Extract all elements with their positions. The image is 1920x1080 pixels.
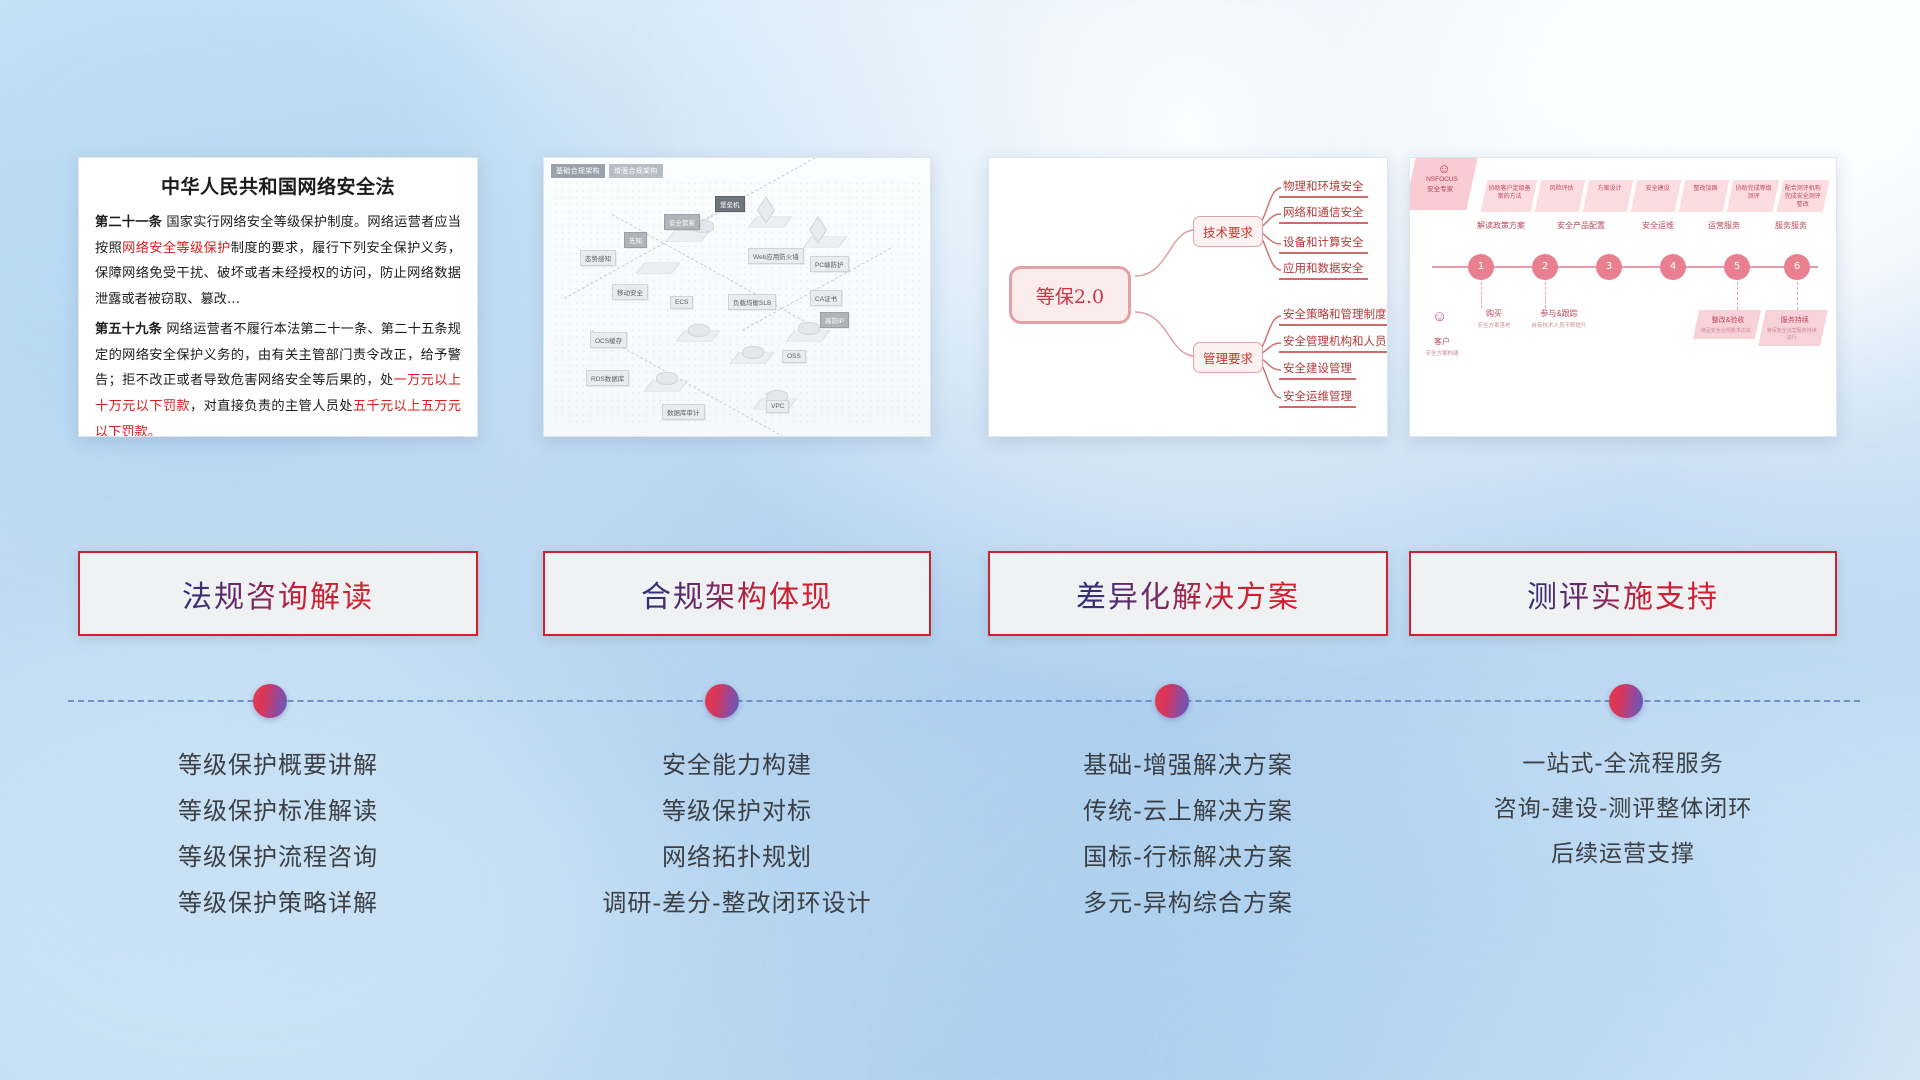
outcome-title: 整改&验收: [1701, 315, 1755, 325]
mindmap-diagram: 等保2.0 技术要求 管理要求 物理和环境安全 网络和通信安全 设备和计算安全 …: [989, 158, 1387, 436]
nsfocus-brand: NSFOCUS: [1411, 176, 1473, 183]
arch-node-ca: CA证书: [810, 290, 842, 306]
nsfocus-step-6: 6: [1784, 254, 1810, 280]
bullet-item: 网络拓扑规划: [543, 834, 931, 880]
customer-role-sub: 安全方案构建: [1416, 349, 1468, 357]
mindmap-branch-management: 管理要求: [1193, 342, 1263, 373]
timeline-dot-4[interactable]: [1609, 684, 1643, 718]
law-article-number-59: 第五十九条: [95, 322, 162, 337]
mindmap-leaf: 应用和数据安全: [1279, 260, 1368, 280]
nsfocus-connector: [1481, 282, 1482, 308]
person-star-icon: ☺: [1413, 162, 1475, 176]
nsfocus-phase-label: 安全产品配置: [1552, 220, 1610, 231]
nsfocus-top-chip: 方案设计: [1583, 180, 1634, 212]
law-document-title: 中华人民共和国网络安全法: [95, 172, 461, 199]
section-plate-2[interactable]: 合规架构体现: [543, 551, 931, 636]
nsfocus-top-chip: 协助客户定级备案的方法: [1481, 180, 1538, 212]
arch-node-housekeeper: 安全管家: [664, 214, 700, 230]
nsfocus-customer-item: 参与&跟踪 自有技术人员不断提升: [1526, 308, 1592, 329]
nsfocus-top-chip: 配合测评机构完成安全测评整改: [1777, 180, 1830, 212]
mindmap-leaf: 安全策略和管理制度: [1279, 306, 1388, 326]
bullet-column-4: 一站式-全流程服务 咨询-建设-测评整体闭环 后续运营支撑: [1409, 742, 1837, 877]
thumbnail-card-architecture[interactable]: 基础合规架构 增强合规架构: [543, 157, 931, 437]
thumbnail-card-law-text[interactable]: 中华人民共和国网络安全法 第二十一条 国家实行网络安全等级保护制度。网络运营者应…: [78, 157, 478, 437]
law-paragraph-59: 第五十九条 网络运营者不履行本法第二十一条、第二十五条规定的网络安全保护义务的，…: [95, 317, 461, 437]
chip-label: 方案设计: [1590, 185, 1628, 193]
nsfocus-step-5: 5: [1724, 254, 1750, 280]
phase-title: 安全运维: [1632, 220, 1684, 231]
nsfocus-step-4: 4: [1660, 254, 1686, 280]
bullet-item: 咨询-建设-测评整体闭环: [1409, 787, 1837, 832]
arch-node-rds: RDS数据库: [586, 370, 629, 386]
phase-title: 安全产品配置: [1552, 220, 1610, 231]
outcome-title: 服务持续: [1768, 315, 1822, 325]
chip-label: 整改加固: [1686, 185, 1724, 193]
bullet-item: 基础-增强解决方案: [988, 742, 1388, 788]
nsfocus-infographic: ☺ NSFOCUS 安全专家 协助客户定级备案的方法 风险评估 方案设计 安全建…: [1410, 158, 1836, 436]
chip-label: 协助客户定级备案的方法: [1488, 185, 1532, 201]
nsfocus-connector: [1545, 282, 1546, 308]
architecture-diagram: 基础合规架构 增强合规架构: [544, 158, 930, 436]
thumbnail-card-nsfocus-timeline[interactable]: ☺ NSFOCUS 安全专家 协助客户定级备案的方法 风险评估 方案设计 安全建…: [1409, 157, 1837, 437]
section-title-3: 差异化解决方案: [1076, 572, 1300, 616]
bullet-item: 后续运营支撑: [1409, 832, 1837, 877]
customer-item-title: 购买: [1466, 308, 1522, 319]
nsfocus-top-chip: 风险评估: [1535, 180, 1586, 212]
nsfocus-top-chip: 协助完成等级测评: [1727, 180, 1780, 212]
outcome-sub: 满足安全合规要求达成: [1699, 327, 1753, 334]
customer-item-sub: 自有技术人员不断提升: [1526, 321, 1592, 329]
bullet-item: 国标-行标解决方案: [988, 834, 1388, 880]
arch-node-waf: Web应用防火墙: [748, 248, 804, 264]
nsfocus-connector: [1737, 282, 1738, 310]
chip-label: 配合测评机构完成安全测评整改: [1783, 185, 1823, 209]
arch-node-situation: 态势感知: [580, 250, 616, 266]
arch-node-mobile: 移动安全: [612, 284, 648, 300]
chip-label: 安全建设: [1638, 185, 1676, 193]
timeline-dot-1[interactable]: [253, 684, 287, 718]
bullet-column-1: 等级保护概要讲解 等级保护标准解读 等级保护流程咨询 等级保护策略详解: [78, 742, 478, 926]
bullet-item: 等级保护对标: [543, 788, 931, 834]
customer-item-title: 参与&跟踪: [1526, 308, 1592, 319]
nsfocus-phase-label: 解读政策方案: [1472, 220, 1530, 231]
timeline-dot-3[interactable]: [1155, 684, 1189, 718]
mindmap-leaf: 安全建设管理: [1279, 360, 1356, 380]
thumbnail-card-mindmap[interactable]: 等保2.0 技术要求 管理要求 物理和环境安全 网络和通信安全 设备和计算安全 …: [988, 157, 1388, 437]
nsfocus-brand-sub: 安全专家: [1409, 183, 1471, 193]
outcome-sub: 等保安全运营服务持续进行: [1765, 327, 1819, 341]
nsfocus-customer-item: 购买 安全方案落地: [1466, 308, 1522, 329]
section-title-4: 测评实施支持: [1527, 572, 1719, 616]
nsfocus-phase-label: 服务服务: [1764, 220, 1818, 231]
mindmap-leaf: 网络和通信安全: [1279, 204, 1368, 224]
bullet-item: 安全能力构建: [543, 742, 931, 788]
arch-node-anti-ddos: 高防IP: [820, 312, 849, 328]
timeline-dot-2[interactable]: [705, 684, 739, 718]
nsfocus-outcome-tile: 服务持续 等保安全运营服务持续进行: [1758, 310, 1828, 346]
bullet-item: 等级保护策略详解: [78, 880, 478, 926]
chip-label: 风险评估: [1542, 185, 1580, 193]
section-plate-3[interactable]: 差异化解决方案: [988, 551, 1388, 636]
chip-label: 协助完成等级测评: [1734, 185, 1774, 201]
arch-node-oss: OSS: [782, 350, 806, 363]
nsfocus-top-chip: 整改加固: [1679, 180, 1730, 212]
arch-node-pc: PC端防护: [810, 256, 849, 272]
mindmap-leaf: 安全管理机构和人员: [1279, 333, 1388, 353]
architecture-tab-group[interactable]: 基础合规架构 增强合规架构: [551, 164, 663, 178]
customer-role-title: 客户: [1416, 336, 1468, 347]
phase-title: 运营服务: [1698, 220, 1750, 231]
bullet-item: 多元-异构综合方案: [988, 880, 1388, 926]
section-plate-1[interactable]: 法规咨询解读: [78, 551, 478, 636]
section-title-1: 法规咨询解读: [182, 572, 374, 616]
mindmap-leaf: 安全运维管理: [1279, 388, 1356, 408]
bullet-item: 调研-差分-整改闭环设计: [543, 880, 931, 926]
bullet-item: 等级保护流程咨询: [78, 834, 478, 880]
nsfocus-phase-label: 安全运维: [1632, 220, 1684, 231]
nsfocus-connector: [1797, 282, 1798, 310]
slide-stage: 中华人民共和国网络安全法 第二十一条 国家实行网络安全等级保护制度。网络运营者应…: [0, 0, 1920, 1080]
arch-node-ecs: ECS: [670, 296, 693, 309]
section-plate-4[interactable]: 测评实施支持: [1409, 551, 1837, 636]
law-text-seg-highlight: 网络安全等级保护: [122, 241, 231, 256]
arch-node-ocs: OCS缓存: [590, 332, 627, 348]
bullet-item: 传统-云上解决方案: [988, 788, 1388, 834]
nsfocus-expert-badge: ☺ NSFOCUS 安全专家: [1409, 158, 1478, 210]
bullet-column-3: 基础-增强解决方案 传统-云上解决方案 国标-行标解决方案 多元-异构综合方案: [988, 742, 1388, 926]
arch-node-slb: 负载均衡SLB: [728, 294, 776, 310]
section-title-2: 合规架构体现: [641, 572, 833, 616]
bullet-item: 一站式-全流程服务: [1409, 742, 1837, 787]
tab-basic-compliance[interactable]: 基础合规架构: [551, 164, 605, 178]
arch-node-vpc: VPC: [766, 400, 789, 413]
tab-enhanced-compliance[interactable]: 增强合规架构: [609, 164, 663, 178]
phase-title: 解读政策方案: [1472, 220, 1530, 231]
law-paragraph-21: 第二十一条 国家实行网络安全等级保护制度。网络运营者应当按照网络安全等级保护制度…: [95, 210, 461, 313]
mindmap-leaf: 物理和环境安全: [1279, 178, 1368, 198]
phase-title: 服务服务: [1764, 220, 1818, 231]
nsfocus-outcome-tile: 整改&验收 满足安全合规要求达成: [1693, 310, 1761, 339]
nsfocus-step-2: 2: [1532, 254, 1558, 280]
mindmap-core-node: 等保2.0: [1009, 266, 1131, 324]
nsfocus-phase-label: 运营服务: [1698, 220, 1750, 231]
arch-node-bastion: 堡垒机: [715, 196, 745, 212]
customer-item-sub: 安全方案落地: [1466, 321, 1522, 329]
mindmap-leaf: 设备和计算安全: [1279, 234, 1368, 254]
nsfocus-customer-role: 客户 安全方案构建: [1416, 336, 1468, 357]
arch-node-db-audit: 数据库审计: [662, 404, 705, 420]
nsfocus-step-1: 1: [1468, 254, 1494, 280]
bullet-column-2: 安全能力构建 等级保护对标 网络拓扑规划 调研-差分-整改闭环设计: [543, 742, 931, 926]
timeline-dashed-line: [68, 700, 1860, 702]
law-article-number-21: 第二十一条: [95, 215, 162, 230]
mindmap-branch-technical: 技术要求: [1193, 216, 1263, 247]
bullet-item: 等级保护标准解读: [78, 788, 478, 834]
nsfocus-step-3: 3: [1596, 254, 1622, 280]
bullet-item: 等级保护概要讲解: [78, 742, 478, 788]
customer-person-icon: ☺: [1432, 308, 1447, 325]
law-text-seg: ，对直接负责的主管人员处: [190, 399, 353, 414]
architecture-canvas: 堡垒机 安全管家 先知 态势感知 移动安全 Web应用防火墙 PC端防护 ECS…: [552, 180, 922, 428]
nsfocus-top-chip: 安全建设: [1631, 180, 1682, 212]
arch-node-foresight: 先知: [624, 232, 647, 248]
